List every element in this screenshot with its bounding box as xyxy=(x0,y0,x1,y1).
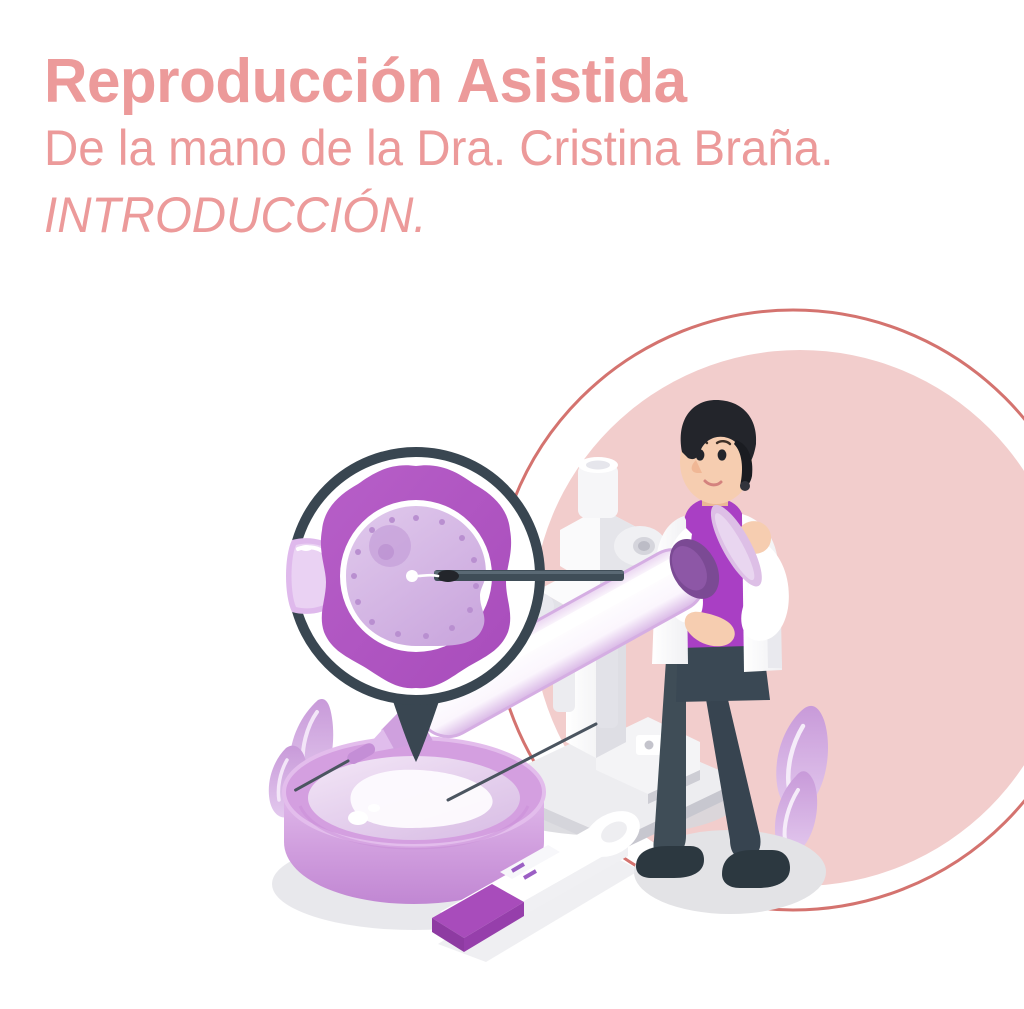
doctor-eye-right xyxy=(718,449,727,460)
doctor-earring xyxy=(740,481,750,491)
sperm-micropipette xyxy=(434,570,624,581)
sperm-cell xyxy=(437,570,459,582)
heading-block: Reproducción Asistida De la mano de la D… xyxy=(44,50,1004,245)
doctor-shoe-left xyxy=(636,846,704,878)
page-kicker: INTRODUCCIÓN. xyxy=(44,186,956,245)
page-subtitle: De la mano de la Dra. Cristina Braña. xyxy=(44,119,956,178)
doctor-shoe-right xyxy=(722,850,790,888)
poster-canvas: Reproducción Asistida De la mano de la D… xyxy=(0,0,1024,1009)
polar-body xyxy=(406,570,418,582)
page-title: Reproducción Asistida xyxy=(44,50,975,113)
